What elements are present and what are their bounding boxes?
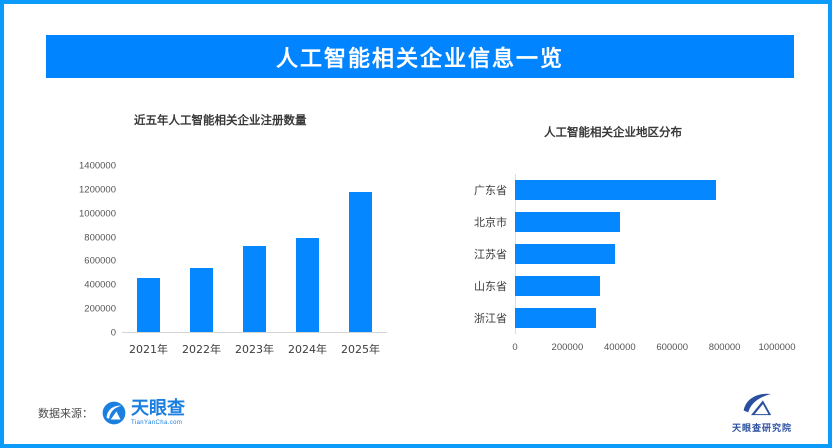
- x-tick-label: 600000: [656, 342, 688, 353]
- tianyancha-eye-icon: [101, 400, 127, 426]
- title-banner: 人工智能相关企业信息一览: [46, 35, 794, 78]
- bar-row: 浙江省: [515, 302, 777, 334]
- right-plot-area: 广东省北京市江苏省山东省浙江省 020000040000060000080000…: [515, 174, 777, 334]
- y-tick-label: 400000: [84, 280, 116, 291]
- category-label: 江苏省: [474, 246, 507, 262]
- column-bar: [137, 278, 160, 332]
- horizontal-bar: [515, 180, 716, 200]
- bar-row: 江苏省: [515, 238, 777, 270]
- tianyancha-name-cn: 天眼查: [131, 400, 185, 418]
- infographic-poster: 人工智能相关企业信息一览 近五年人工智能相关企业注册数量 14000001200…: [0, 0, 832, 448]
- tianyancha-name-en: TianYanCha.com: [131, 420, 185, 426]
- category-label: 山东省: [474, 278, 507, 294]
- category-label: 浙江省: [474, 310, 507, 326]
- column-bar: [190, 268, 213, 332]
- x-tick-label: 0: [512, 342, 517, 353]
- column-slot: 2024年: [281, 165, 334, 332]
- page-title: 人工智能相关企业信息一览: [276, 41, 564, 73]
- column-slot: 2022年: [175, 165, 228, 332]
- x-tick-label: 400000: [604, 342, 636, 353]
- y-tick-label: 200000: [84, 304, 116, 315]
- x-axis-line: [122, 332, 387, 333]
- y-tick-label: 800000: [84, 232, 116, 243]
- x-tick-label: 800000: [709, 342, 741, 353]
- y-tick-label: 1000000: [79, 208, 116, 219]
- x-tick-label: 1000000: [759, 342, 796, 353]
- source-label: 数据来源：: [38, 405, 93, 421]
- x-tick-label: 2022年: [175, 341, 228, 357]
- horizontal-bar: [515, 212, 620, 232]
- footer-source: 数据来源： 天眼查 TianYanCha.com: [38, 400, 185, 426]
- chart-title-right: 人工智能相关企业地区分布: [544, 124, 682, 140]
- bar-row: 山东省: [515, 270, 777, 302]
- column-slot: 2021年: [122, 165, 175, 332]
- chart-title-left: 近五年人工智能相关企业注册数量: [134, 112, 307, 128]
- bar-row: 广东省: [515, 174, 777, 206]
- y-tick-label: 0: [111, 328, 116, 339]
- left-plot-area: 1400000120000010000008000006000004000002…: [122, 166, 387, 333]
- registration-count-chart: 近五年人工智能相关企业注册数量 140000012000001000000800…: [54, 104, 414, 364]
- column-slot: 2025年: [334, 165, 387, 332]
- horizontal-bar: [515, 308, 596, 328]
- column-slot: 2023年: [228, 165, 281, 332]
- y-tick-label: 600000: [84, 256, 116, 267]
- category-label: 北京市: [474, 214, 507, 230]
- column-bar: [243, 246, 266, 332]
- x-tick-label: 200000: [552, 342, 584, 353]
- x-tick-label: 2024年: [281, 341, 334, 357]
- x-tick-label: 2023年: [228, 341, 281, 357]
- x-tick-label: 2021年: [122, 341, 175, 357]
- y-tick-label: 1200000: [79, 184, 116, 195]
- column-bar: [349, 192, 372, 332]
- x-tick-label: 2025年: [334, 341, 387, 357]
- category-label: 广东省: [474, 182, 507, 198]
- research-institute-name: 天眼查研究院: [732, 421, 792, 434]
- region-distribution-chart: 人工智能相关企业地区分布 广东省北京市江苏省山东省浙江省 02000004000…: [434, 109, 814, 374]
- horizontal-bar: [515, 276, 600, 296]
- horizontal-bar: [515, 244, 615, 264]
- tianyancha-logo: 天眼查 TianYanCha.com: [101, 400, 185, 426]
- tianyancha-wordmark: 天眼查 TianYanCha.com: [131, 400, 185, 426]
- research-institute-icon: [740, 390, 784, 420]
- footer-institute: 天眼查研究院: [732, 390, 792, 434]
- y-tick-label: 1400000: [79, 161, 116, 172]
- bar-row: 北京市: [515, 206, 777, 238]
- column-bar: [296, 238, 319, 332]
